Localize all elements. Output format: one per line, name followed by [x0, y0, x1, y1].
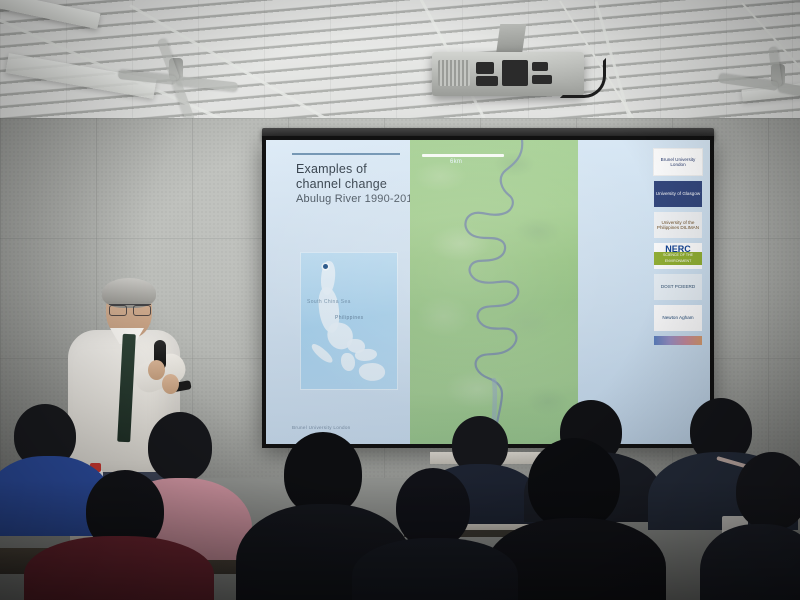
- slide-subtitle: Abulug River 1990-2010: [296, 192, 424, 206]
- head: [528, 438, 620, 530]
- head: [148, 412, 212, 482]
- logo-university-of-glasgow: University of Glasgow: [654, 181, 702, 207]
- satellite-haze: [410, 140, 578, 444]
- logo-university-of-the-philippines-diliman: University of the Philippines DILIMAN: [654, 212, 702, 238]
- slide-canvas: Examples of channel change Abulug River …: [266, 140, 710, 444]
- projector-port: [476, 62, 494, 74]
- location-marker-icon: [323, 264, 328, 269]
- ceiling-fan-right: [718, 64, 800, 108]
- island-mindanao: [358, 362, 386, 383]
- logo-nerc: NERC SCIENCE OF THE ENVIRONMENT: [654, 243, 702, 269]
- head: [396, 468, 470, 548]
- slide-title-line1: Examples of: [296, 162, 424, 177]
- scale-bar: [422, 154, 504, 157]
- presenter-hand: [148, 360, 165, 380]
- logo-brunel-university-london: Brunel University London: [653, 148, 703, 176]
- inset-map-philippines: Philippines South China Sea: [300, 252, 398, 390]
- ceiling: [0, 0, 800, 122]
- scale-bar-label: 6km: [450, 159, 462, 165]
- glasses-icon: [109, 304, 151, 314]
- logo-strip: Brunel University London University of G…: [652, 148, 704, 345]
- shoulders: [24, 536, 214, 600]
- slide-title-line2: channel change: [296, 177, 424, 192]
- logo-nerc-subtext: SCIENCE OF THE ENVIRONMENT: [654, 252, 702, 265]
- logo-philippine-council-research: DOST PCIEERD: [654, 274, 702, 300]
- projection-screen: Examples of channel change Abulug River …: [262, 136, 714, 448]
- projector-port: [532, 75, 552, 84]
- head: [736, 452, 800, 530]
- logo-newton-agham: Newton Agham: [654, 305, 702, 331]
- slide-footer: Brunel University London: [292, 425, 351, 430]
- map-label-country: Philippines: [335, 315, 364, 321]
- island-palawan: [341, 353, 355, 371]
- projector-vent: [438, 60, 470, 86]
- satellite-image: 6km: [410, 140, 578, 444]
- lecture-hall-scene: Examples of channel change Abulug River …: [0, 0, 800, 600]
- projector-cable: [560, 58, 606, 98]
- map-label-sea-west: South China Sea: [307, 299, 351, 305]
- ceiling-fan-left: [116, 58, 236, 102]
- shoulders: [352, 538, 518, 600]
- projector-port: [502, 60, 528, 86]
- fan-blade: [176, 76, 239, 91]
- projected-slide: Examples of channel change Abulug River …: [266, 140, 710, 444]
- presenter-hand: [162, 374, 179, 394]
- map-leader-line: [292, 153, 400, 155]
- projector-port: [532, 62, 548, 71]
- logo-color-bar: [654, 336, 702, 345]
- projector-port: [476, 76, 498, 86]
- shoulders: [700, 524, 800, 600]
- slide-title: Examples of channel change Abulug River …: [296, 162, 424, 206]
- fan-blade: [718, 74, 779, 91]
